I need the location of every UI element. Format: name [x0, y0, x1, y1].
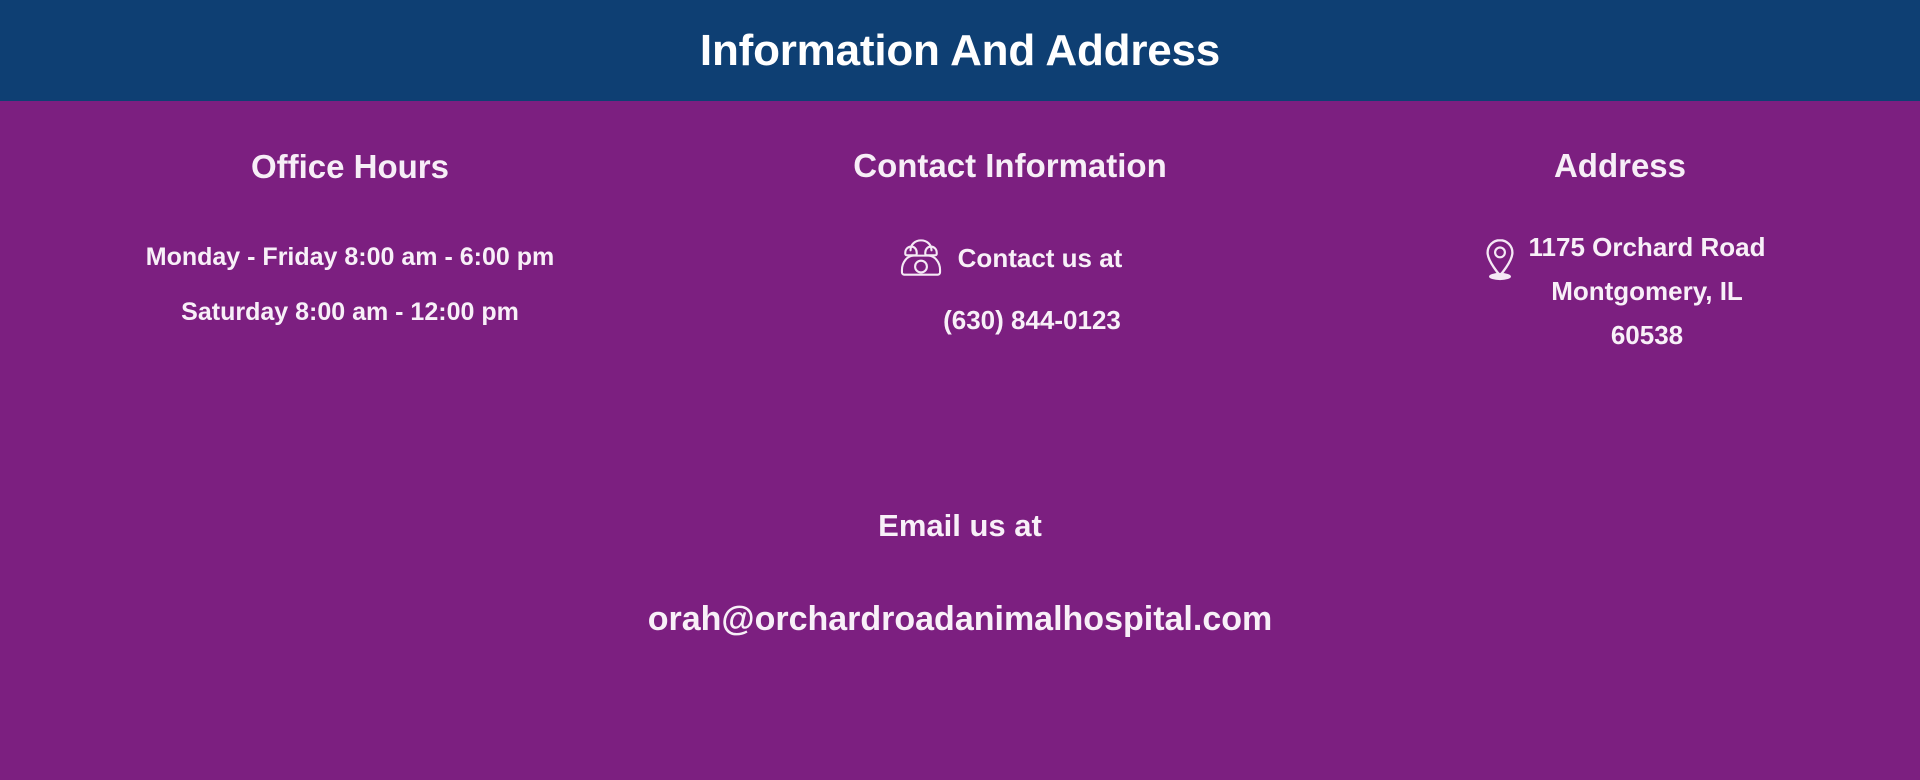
column-office-hours: Office Hours Monday - Friday 8:00 am - 6… — [0, 101, 700, 481]
address-city-state: Montgomery, IL — [1529, 278, 1766, 304]
contact-label-row: Contact us at — [700, 238, 1320, 278]
column-contact-information: Contact Information Contact us at — [700, 101, 1320, 481]
info-columns: Office Hours Monday - Friday 8:00 am - 6… — [0, 101, 1920, 481]
email-label: Email us at — [0, 510, 1920, 541]
contact-details: Contact us at (630) 844-0123 — [700, 238, 1320, 333]
address-heading: Address — [1320, 149, 1920, 182]
address-details: 1175 Orchard Road Montgomery, IL 60538 — [1320, 234, 1920, 348]
rotary-phone-icon — [898, 238, 944, 278]
page-title: Information And Address — [700, 29, 1220, 73]
office-hours-saturday: Saturday 8:00 am - 12:00 pm — [0, 300, 700, 325]
column-address: Address 1175 Orchard Road Montgomery, IL… — [1320, 101, 1920, 481]
office-hours-list: Monday - Friday 8:00 am - 6:00 pm Saturd… — [0, 245, 700, 325]
address-lines: 1175 Orchard Road Montgomery, IL 60538 — [1529, 234, 1766, 348]
address-street: 1175 Orchard Road — [1529, 234, 1766, 260]
map-pin-icon — [1483, 238, 1517, 282]
contact-label: Contact us at — [958, 245, 1123, 271]
address-zip: 60538 — [1529, 322, 1766, 348]
office-hours-heading: Office Hours — [0, 150, 700, 183]
office-hours-weekday: Monday - Friday 8:00 am - 6:00 pm — [0, 245, 700, 270]
contact-information-heading: Contact Information — [700, 149, 1320, 182]
information-and-address-section: Information And Address Office Hours Mon… — [0, 0, 1920, 780]
phone-number[interactable]: (630) 844-0123 — [744, 307, 1320, 333]
email-section: Email us at orah@orchardroadanimalhospit… — [0, 510, 1920, 636]
email-address[interactable]: orah@orchardroadanimalhospital.com — [0, 602, 1920, 636]
section-header-band: Information And Address — [0, 0, 1920, 101]
